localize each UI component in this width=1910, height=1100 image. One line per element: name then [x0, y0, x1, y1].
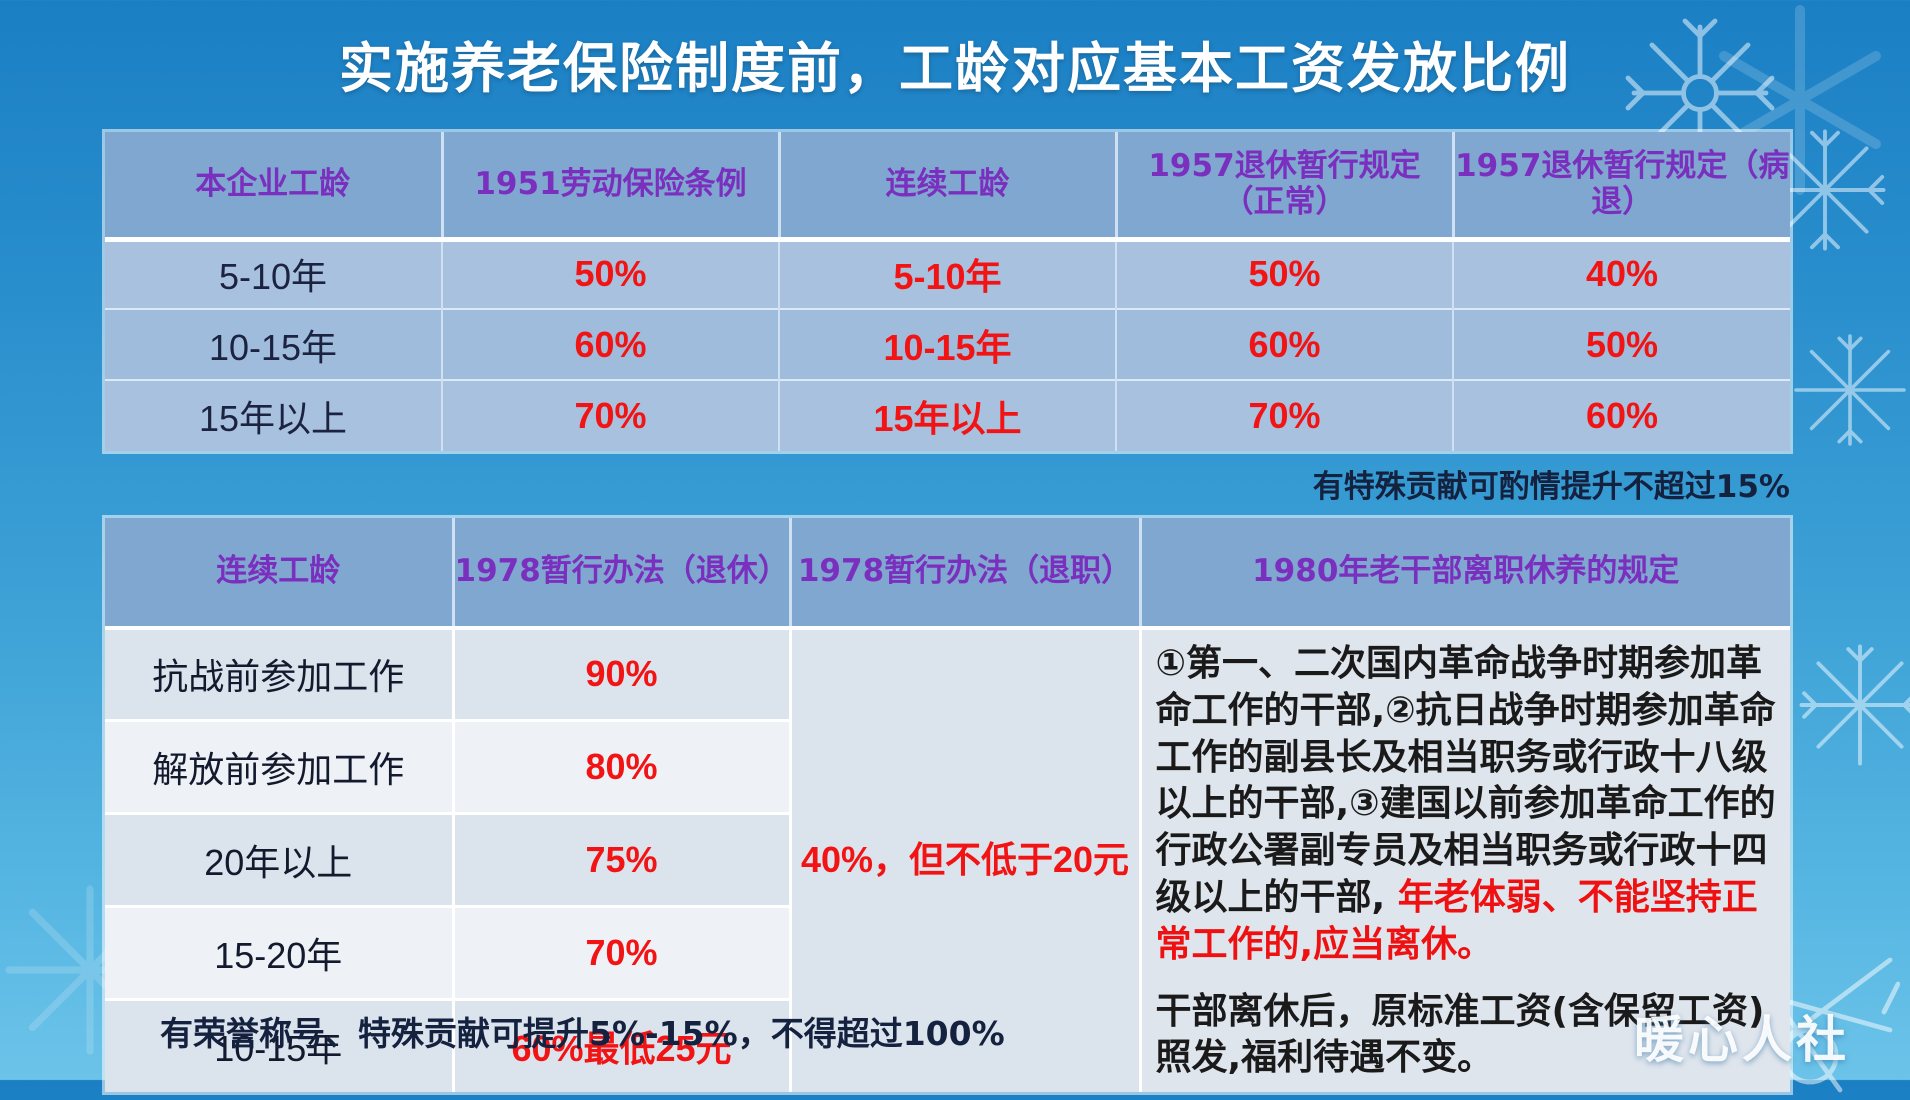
table2-cell-0-1: 90% — [453, 628, 790, 721]
table1-cell-0-0: 5-10年 — [105, 238, 442, 309]
table1-header-cell-3: 1957退休暂行规定（正常） — [1116, 132, 1453, 238]
table1-cell-0-4: 40% — [1453, 238, 1790, 309]
snowflake-icon — [1790, 330, 1910, 450]
table2-cell-3-0: 15-20年 — [105, 906, 453, 999]
snowflake-icon — [1795, 640, 1910, 770]
paragraph-gap — [1156, 969, 1777, 989]
table2-cell-1-1: 80% — [453, 720, 790, 813]
table1-cell-2-0: 15年以上 — [105, 380, 442, 451]
table2-cell-0-0: 抗战前参加工作 — [105, 628, 453, 721]
table1-header-cell-1: 1951劳动保险条例 — [442, 132, 779, 238]
pension-ratio-table-1: 本企业工龄 1951劳动保险条例 连续工龄 1957退休暂行规定（正常） 195… — [105, 132, 1790, 451]
table1-header-divider — [105, 237, 1790, 242]
table2-header-cell-0: 连续工龄 — [105, 518, 453, 628]
table1-header-cell-4: 1957退休暂行规定（病退） — [1453, 132, 1790, 238]
table1-cell-1-0: 10-15年 — [105, 309, 442, 380]
table1-header-cell-2: 连续工龄 — [779, 132, 1116, 238]
watermark-logo: 暖心人社 — [1634, 1000, 1850, 1072]
table1-cell-1-1: 60% — [442, 309, 779, 380]
table1-cell-0-2: 5-10年 — [779, 238, 1116, 309]
table2-cell-3-1: 70% — [453, 906, 790, 999]
table-row: 15年以上 70% 15年以上 70% 60% — [105, 380, 1790, 451]
table-row: 5-10年 50% 5-10年 50% 40% — [105, 238, 1790, 309]
table2-note: 有荣誉称号、特殊贡献可提升5%-15%，不得超过100% — [160, 1007, 1005, 1055]
table2-cell-1-0: 解放前参加工作 — [105, 720, 453, 813]
table2-header-row: 连续工龄 1978暂行办法（退休） 1978暂行办法（退职） 1980年老干部离… — [105, 518, 1790, 628]
table-row: 抗战前参加工作 90% 40%，但不低于20元 ①第一、二次国内革命战争时期参加… — [105, 628, 1790, 721]
table1-cell-0-3: 50% — [1116, 238, 1453, 309]
table1-cell-0-1: 50% — [442, 238, 779, 309]
page-title: 实施养老保险制度前，工龄对应基本工资发放比例 — [0, 24, 1910, 103]
table1-cell-2-2: 15年以上 — [779, 380, 1116, 451]
table1-cell-1-2: 10-15年 — [779, 309, 1116, 380]
table1-cell-2-4: 60% — [1453, 380, 1790, 451]
table-row: 10-15年 60% 10-15年 60% 50% — [105, 309, 1790, 380]
table1-header-cell-0: 本企业工龄 — [105, 132, 442, 238]
table2-cell-2-0: 20年以上 — [105, 813, 453, 906]
table1-header-row: 本企业工龄 1951劳动保险条例 连续工龄 1957退休暂行规定（正常） 195… — [105, 132, 1790, 238]
table2-header-cell-1: 1978暂行办法（退休） — [453, 518, 790, 628]
table1-cell-1-4: 50% — [1453, 309, 1790, 380]
table2-header-cell-3: 1980年老干部离职休养的规定 — [1140, 518, 1790, 628]
table2-header-cell-2: 1978暂行办法（退职） — [790, 518, 1140, 628]
table2-header-divider — [105, 626, 1790, 630]
table1-cell-2-1: 70% — [442, 380, 779, 451]
table1-cell-1-3: 60% — [1116, 309, 1453, 380]
table1-note: 有特殊贡献可酌情提升不超过15% — [1313, 461, 1790, 506]
table2-cell-2-1: 75% — [453, 813, 790, 906]
table1-cell-2-3: 70% — [1116, 380, 1453, 451]
